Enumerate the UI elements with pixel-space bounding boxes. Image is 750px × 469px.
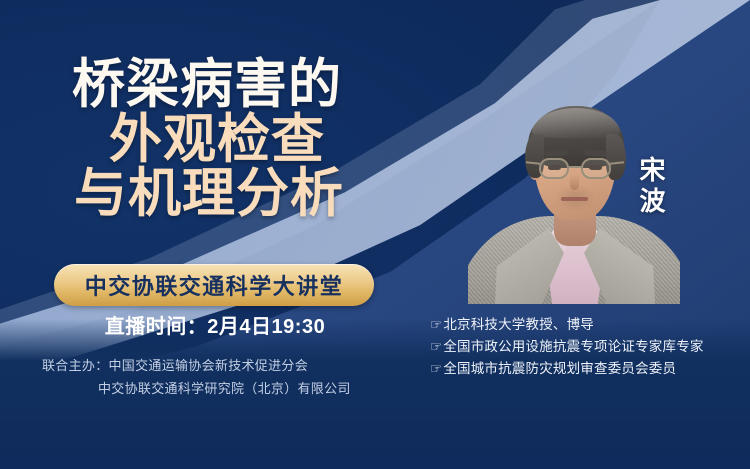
speaker-name-char-2: 波 — [632, 186, 674, 217]
organizer-line-2: 中交协联交通科学研究院（北京）有限公司 — [42, 378, 442, 401]
speaker-name-char-1: 宋 — [632, 155, 674, 186]
pointing-hand-icon: ☞ — [430, 317, 442, 332]
title-line-2: 外观检查 — [14, 113, 420, 168]
speaker-credentials: ☞北京科技大学教授、博导 ☞全国市政公用设施抗震专项论证专家库专家 ☞全国城市抗… — [430, 314, 746, 380]
credential-line-1: ☞北京科技大学教授、博导 — [430, 314, 746, 336]
pointing-hand-icon: ☞ — [430, 361, 442, 376]
pointing-hand-icon: ☞ — [430, 339, 442, 354]
series-badge-label: 中交协联交通科学大讲堂 — [85, 269, 344, 301]
credential-text-1: 北京科技大学教授、博导 — [443, 317, 594, 332]
organizer-line-1: 联合主办：中国交通运输协会新技术促进分会 — [42, 355, 442, 378]
portrait-mouth — [561, 197, 588, 201]
credential-line-2: ☞全国市政公用设施抗震专项论证专家库专家 — [430, 336, 746, 358]
speaker-name: 宋 波 — [632, 155, 674, 216]
glasses-bridge-icon — [569, 166, 581, 168]
organizers: 联合主办：中国交通运输协会新技术促进分会 中交协联交通科学研究院（北京）有限公司 — [42, 355, 442, 401]
title-line-1: 桥梁病害的 — [0, 58, 420, 113]
credential-line-3: ☞全国城市抗震防灾规划审查委员会委员 — [430, 358, 746, 380]
glasses-lens-right-icon — [581, 158, 611, 179]
glasses-lens-left-icon — [539, 158, 569, 179]
poster-title: 桥梁病害的 外观检查 与机理分析 — [0, 58, 420, 222]
credential-text-3: 全国城市抗震防灾规划审查委员会委员 — [443, 361, 676, 376]
title-line-3: 与机理分析 — [0, 167, 420, 222]
live-time: 直播时间：2月4日19:30 — [0, 310, 430, 339]
series-badge: 中交协联交通科学大讲堂 — [54, 264, 374, 306]
credential-text-2: 全国市政公用设施抗震专项论证专家库专家 — [443, 339, 703, 354]
webinar-poster: 桥梁病害的 外观检查 与机理分析 中交协联交通科学大讲堂 直播时间：2月4日19… — [0, 0, 750, 469]
